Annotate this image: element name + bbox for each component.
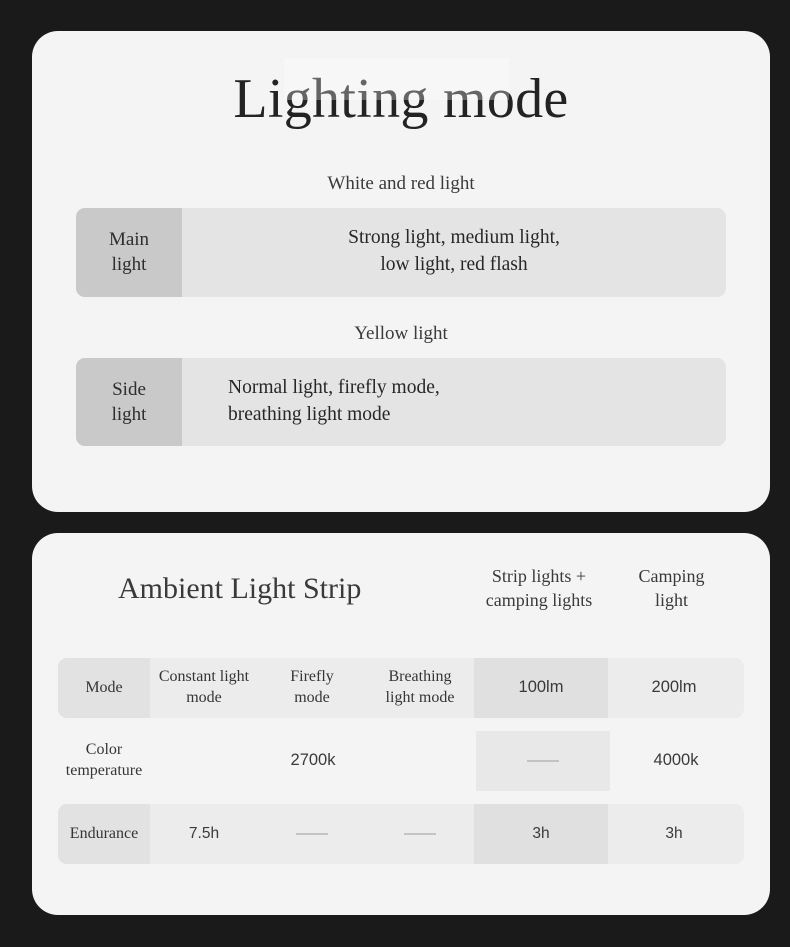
cell-mode-camping-light: 200lm bbox=[608, 658, 740, 718]
cell-color-temperature-2700k: 2700k bbox=[150, 731, 476, 791]
row-value-line1: Normal light, firefly mode, bbox=[228, 377, 440, 398]
row-label-line1: Main bbox=[109, 229, 149, 250]
row-label-line2: light bbox=[112, 404, 147, 425]
column-header-line1: Camping bbox=[639, 566, 705, 586]
row-value-side-light: Normal light, firefly mode, breathing li… bbox=[182, 358, 726, 446]
ambient-light-strip-card: Ambient Light Strip Strip lights + campi… bbox=[32, 533, 770, 915]
ambient-table-header: Ambient Light Strip Strip lights + campi… bbox=[32, 533, 770, 605]
column-header-strip-plus-camping: Strip lights + camping lights bbox=[472, 565, 606, 613]
group-caption-white-red: White and red light bbox=[32, 129, 770, 195]
row-label-mode: Mode bbox=[58, 658, 150, 718]
column-header-line2: camping lights bbox=[486, 590, 593, 610]
cell-breathing-light-mode: Breathing light mode bbox=[366, 658, 474, 718]
page-root: Lighting mode White and red light Main l… bbox=[0, 0, 790, 947]
cell-endurance-strip-plus-camping: 3h bbox=[474, 804, 608, 864]
empty-value-dash-icon bbox=[404, 833, 436, 835]
row-value-main-light: Strong light, medium light, low light, r… bbox=[182, 208, 726, 297]
row-label-line1: Side bbox=[112, 379, 146, 400]
row-label-main-light: Main light bbox=[76, 208, 182, 297]
row-label-endurance: Endurance bbox=[58, 804, 150, 864]
cell-value: 100lm bbox=[519, 677, 564, 698]
empty-value-dash-icon bbox=[296, 833, 328, 835]
cell-value: 4000k bbox=[654, 750, 699, 771]
cell-line2: mode bbox=[294, 689, 330, 706]
cell-color-temperature-camping-light: 4000k bbox=[610, 731, 742, 791]
cell-constant-light-mode: Constant light mode bbox=[150, 658, 258, 718]
row-label-line1: Color bbox=[86, 741, 122, 758]
cell-line1: Breathing bbox=[388, 668, 451, 685]
cell-value: 200lm bbox=[652, 677, 697, 698]
cell-line1: Constant light bbox=[159, 668, 249, 685]
table-row: Endurance 7.5h 3h 3h bbox=[58, 804, 744, 864]
cell-color-temperature-strip-plus-camping bbox=[476, 731, 610, 791]
cell-line1: Firefly bbox=[290, 668, 334, 685]
cell-value: 3h bbox=[532, 824, 549, 844]
cell-line2: mode bbox=[186, 689, 222, 706]
cell-endurance-breathing bbox=[366, 804, 474, 864]
column-header-line1: Strip lights + bbox=[492, 566, 586, 586]
cell-endurance-camping-light: 3h bbox=[608, 804, 740, 864]
row-value-line1: Strong light, medium light, bbox=[348, 227, 560, 248]
cell-line2: light mode bbox=[386, 689, 455, 706]
table-row: Mode Constant light mode Firefly mode Br bbox=[58, 658, 744, 718]
column-header-line2: light bbox=[655, 590, 688, 610]
cell-endurance-constant-light: 7.5h bbox=[150, 804, 258, 864]
column-header-camping-light: Camping light bbox=[605, 565, 738, 613]
lighting-row-side-light: Side light Normal light, firefly mode, b… bbox=[76, 358, 726, 446]
cell-value: 3h bbox=[665, 824, 682, 844]
ambient-spec-table: Mode Constant light mode Firefly mode Br bbox=[58, 658, 744, 864]
lighting-row-main-light: Main light Strong light, medium light, l… bbox=[76, 208, 726, 297]
lighting-mode-card: Lighting mode White and red light Main l… bbox=[32, 31, 770, 512]
ambient-section-title: Ambient Light Strip bbox=[118, 572, 361, 606]
cell-value: 2700k bbox=[291, 750, 336, 771]
row-label-side-light: Side light bbox=[76, 358, 182, 446]
cell-firefly-mode: Firefly mode bbox=[258, 658, 366, 718]
empty-value-dash-icon bbox=[527, 760, 559, 762]
row-value-line2: breathing light mode bbox=[228, 404, 390, 425]
cell-value: 7.5h bbox=[189, 824, 219, 844]
row-label-color-temperature: Color temperature bbox=[58, 731, 150, 791]
row-value-line2: low light, red flash bbox=[380, 254, 527, 275]
table-row: Color temperature 2700k 4000k bbox=[58, 731, 744, 791]
cell-endurance-firefly bbox=[258, 804, 366, 864]
page-title: Lighting mode bbox=[32, 31, 770, 129]
row-label-line2: temperature bbox=[66, 762, 142, 779]
group-caption-yellow: Yellow light bbox=[32, 297, 770, 345]
cell-mode-strip-plus-camping: 100lm bbox=[474, 658, 608, 718]
row-label-line2: light bbox=[112, 254, 147, 275]
